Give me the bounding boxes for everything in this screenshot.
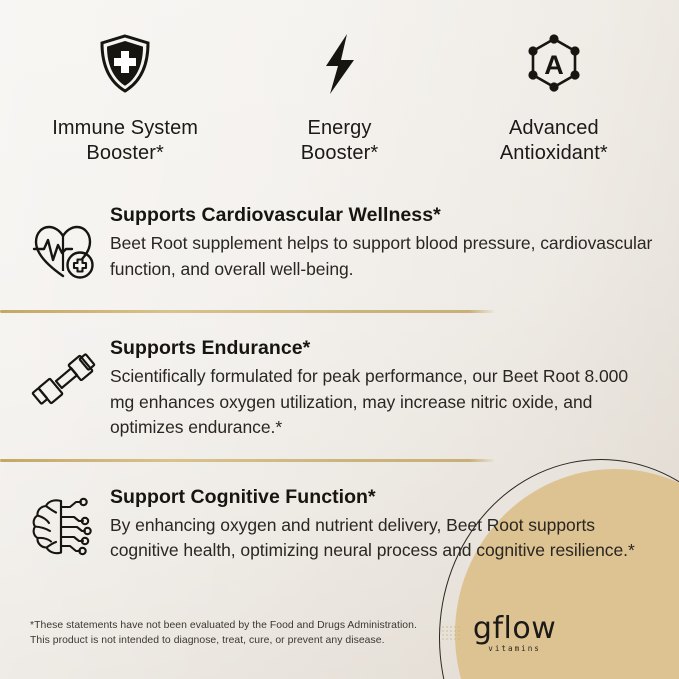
brand-tagline: vitamins <box>488 645 541 653</box>
dumbbell-icon <box>18 335 110 411</box>
top-feature-label: Advanced Antioxidant* <box>500 116 608 166</box>
benefit-title: Supports Endurance* <box>110 335 655 361</box>
shield-medical-icon <box>98 34 152 94</box>
svg-text:A: A <box>544 50 564 80</box>
benefit-body: Supports Endurance* Scientifically formu… <box>110 335 659 441</box>
product-infographic: Immune System Booster* Energy Booster* <box>0 0 679 679</box>
lightning-bolt-icon <box>316 34 362 94</box>
benefit-section-endurance: Supports Endurance* Scientifically formu… <box>0 335 679 441</box>
benefit-title: Supports Cardiovascular Wellness* <box>110 202 655 228</box>
brand-name: gflow <box>473 614 556 644</box>
benefit-text: By enhancing oxygen and nutrient deliver… <box>110 513 655 564</box>
benefit-section-cardiovascular: Supports Cardiovascular Wellness* Beet R… <box>0 202 679 282</box>
top-feature-immune: Immune System Booster* <box>18 34 232 166</box>
brand-logo: gflow vitamins <box>441 614 556 653</box>
benefit-body: Supports Cardiovascular Wellness* Beet R… <box>110 202 659 282</box>
top-feature-energy: Energy Booster* <box>232 34 446 166</box>
footer: *These statements have not been evaluate… <box>0 614 679 653</box>
section-divider-1 <box>0 310 494 313</box>
benefit-section-cognitive: Support Cognitive Function* By enhancing… <box>0 484 679 564</box>
top-feature-row: Immune System Booster* Energy Booster* <box>0 0 679 166</box>
top-feature-label: Energy Booster* <box>301 116 379 166</box>
hexagon-antioxidant-icon: A <box>525 34 583 94</box>
dotted-pattern-icon <box>441 624 463 644</box>
benefit-title: Support Cognitive Function* <box>110 484 655 510</box>
fda-disclaimer: *These statements have not been evaluate… <box>30 619 417 648</box>
benefit-text: Beet Root supplement helps to support bl… <box>110 231 655 282</box>
benefit-body: Support Cognitive Function* By enhancing… <box>110 484 659 564</box>
heart-pulse-icon <box>18 202 110 280</box>
benefit-text: Scientifically formulated for peak perfo… <box>110 364 655 441</box>
section-divider-2 <box>0 459 494 462</box>
brain-circuit-icon <box>18 484 110 558</box>
top-feature-antioxidant: A Advanced Antioxidant* <box>447 34 661 166</box>
brand-logo-text: gflow vitamins <box>473 614 556 653</box>
top-feature-label: Immune System Booster* <box>52 116 198 166</box>
